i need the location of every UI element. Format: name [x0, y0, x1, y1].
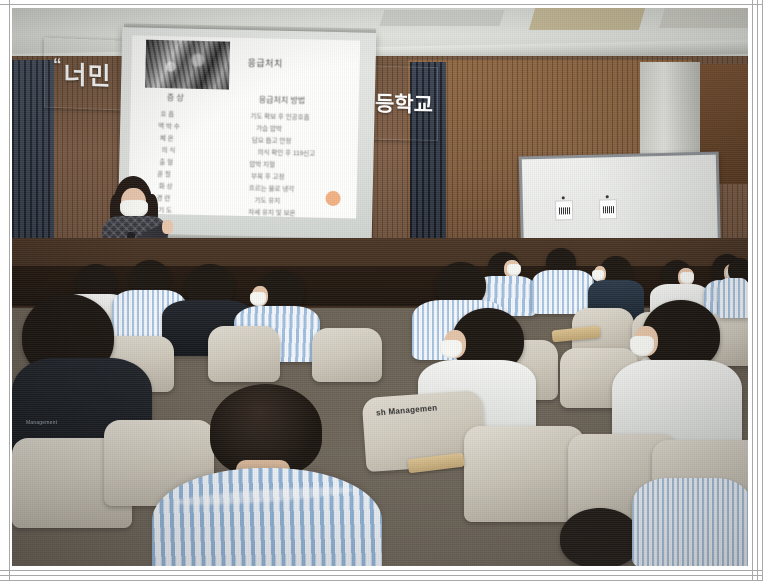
slide-right-item: 의식 확인 후 119신고: [257, 146, 315, 157]
slide-right-item: 압박 지혈: [249, 158, 275, 169]
slide-marker-dot: [325, 191, 340, 206]
face-mask: [630, 336, 654, 356]
whiteboard-note: [555, 200, 573, 220]
photograph: “너민 등학교 응급처치 증 상 응급처치 방법 호 흡 맥 박 수 체 온 의…: [12, 8, 748, 566]
face-mask: [440, 340, 462, 358]
ceiling-panel: [379, 10, 504, 26]
note-barcode-icon: [558, 207, 569, 214]
whiteboard-note: [599, 199, 617, 219]
frame-line-right-1: [752, 0, 753, 581]
frame-line-bottom-1: [0, 570, 763, 571]
face-mask: [680, 272, 694, 284]
slide-column-header-right: 응급처치 방법: [259, 94, 306, 106]
slide-right-item: 담요 듭고 안정: [252, 134, 292, 145]
note-barcode-icon: [602, 206, 613, 213]
photo-frame: “너민 등학교 응급처치 증 상 응급처치 방법 호 흡 맥 박 수 체 온 의…: [0, 0, 763, 581]
auditorium-chair: [464, 426, 584, 522]
ceiling-panel: [659, 8, 748, 28]
shirt-logo-text: Management: [26, 420, 57, 426]
list-item: [632, 478, 748, 566]
slide-column-header-left: 증 상: [167, 92, 184, 103]
slide-right-item: 기도 유지: [254, 194, 280, 205]
quote-mark-icon: “: [53, 55, 63, 74]
list-item: [560, 508, 640, 566]
auditorium-chair: [312, 328, 382, 382]
pin-icon: [606, 195, 609, 198]
ceiling-panel: [529, 8, 645, 30]
slide-right-item: 부목 후 고정: [251, 170, 285, 181]
slide-left-item: 맥 박 수: [158, 120, 180, 130]
banner-left-text: “너민: [53, 55, 112, 93]
slide-left-item: 의 식: [162, 144, 176, 154]
slide-right-item: 기도 확보 후 인공호흡: [250, 110, 309, 121]
presenter-hand: [162, 220, 173, 234]
frame-line-bottom-2: [0, 575, 763, 576]
frame-line-left: [9, 0, 10, 581]
face-mask: [507, 264, 521, 276]
slide-title: 응급처치: [247, 56, 282, 70]
banner-right-label: 등학교: [375, 88, 433, 119]
slide-right-item: 가슴 압박: [256, 122, 282, 133]
foreground-person-shirt: [152, 468, 382, 566]
slide-right-item: 흐르는 물로 냉각: [249, 182, 295, 193]
slide-left-item: 출 혈: [159, 156, 173, 166]
auditorium-scene: “너민 등학교 응급처치 증 상 응급처치 방법 호 흡 맥 박 수 체 온 의…: [12, 8, 748, 566]
pin-icon: [562, 196, 565, 199]
frame-line-right-2: [757, 0, 758, 581]
banner-left-label: 너민: [64, 61, 112, 91]
face-mask: [250, 292, 266, 306]
frame-line-top: [0, 4, 763, 5]
slide-left-item: 체 온: [160, 132, 174, 142]
slide-left-item: 호 흡: [160, 108, 174, 118]
slide-right-item: 자세 유지 및 보온: [248, 206, 295, 217]
foreground-person: [152, 394, 382, 566]
list-item: [718, 278, 748, 318]
auditorium-chair: [208, 326, 280, 382]
slide-thumbnail-photo: [145, 40, 230, 90]
